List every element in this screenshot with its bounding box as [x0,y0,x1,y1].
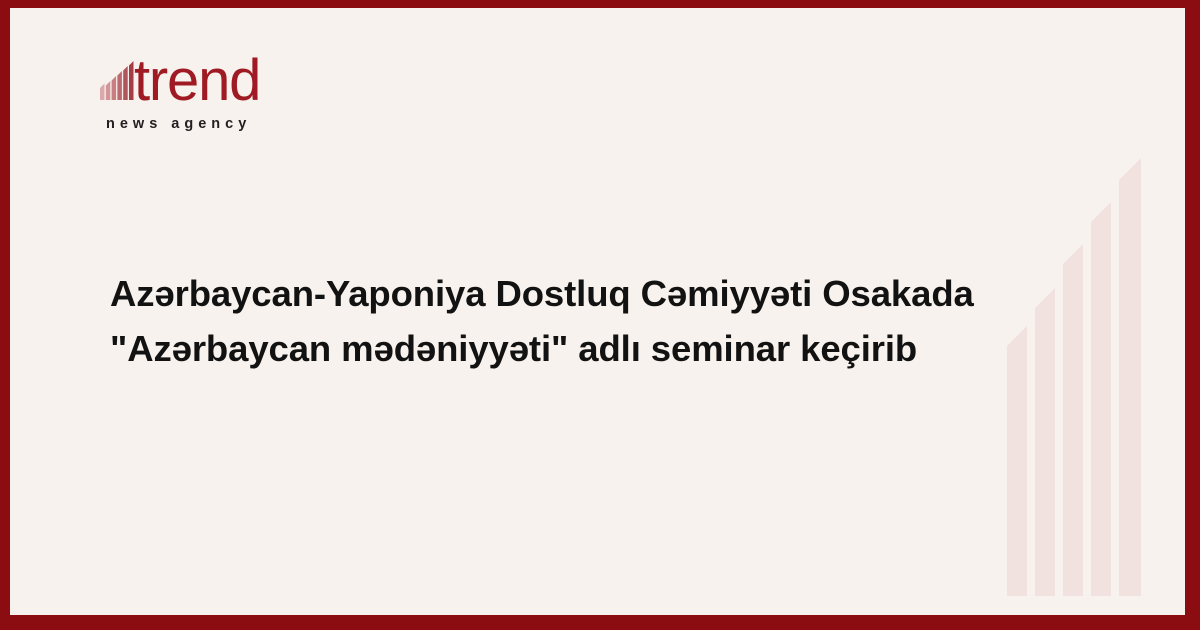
page-title: Azərbaycan-Yaponiya Dostluq Cəmiyyəti Os… [110,266,1010,376]
share-card: trend news agency Azərbaycan-Yaponiya Do… [10,8,1185,615]
trend-wordmark-icon: trend [98,48,282,110]
headline-line-1: Azərbaycan-Yaponiya Dostluq Cəmiyyəti Os… [110,266,1010,321]
headline-line-2: "Azərbaycan mədəniyyəti" adlı seminar ke… [110,321,1010,376]
trend-logo[interactable]: trend news agency [98,46,298,142]
ascending-bars-watermark-icon [995,8,1185,615]
svg-text:trend: trend [134,48,260,110]
logo-tagline: news agency [106,116,251,132]
